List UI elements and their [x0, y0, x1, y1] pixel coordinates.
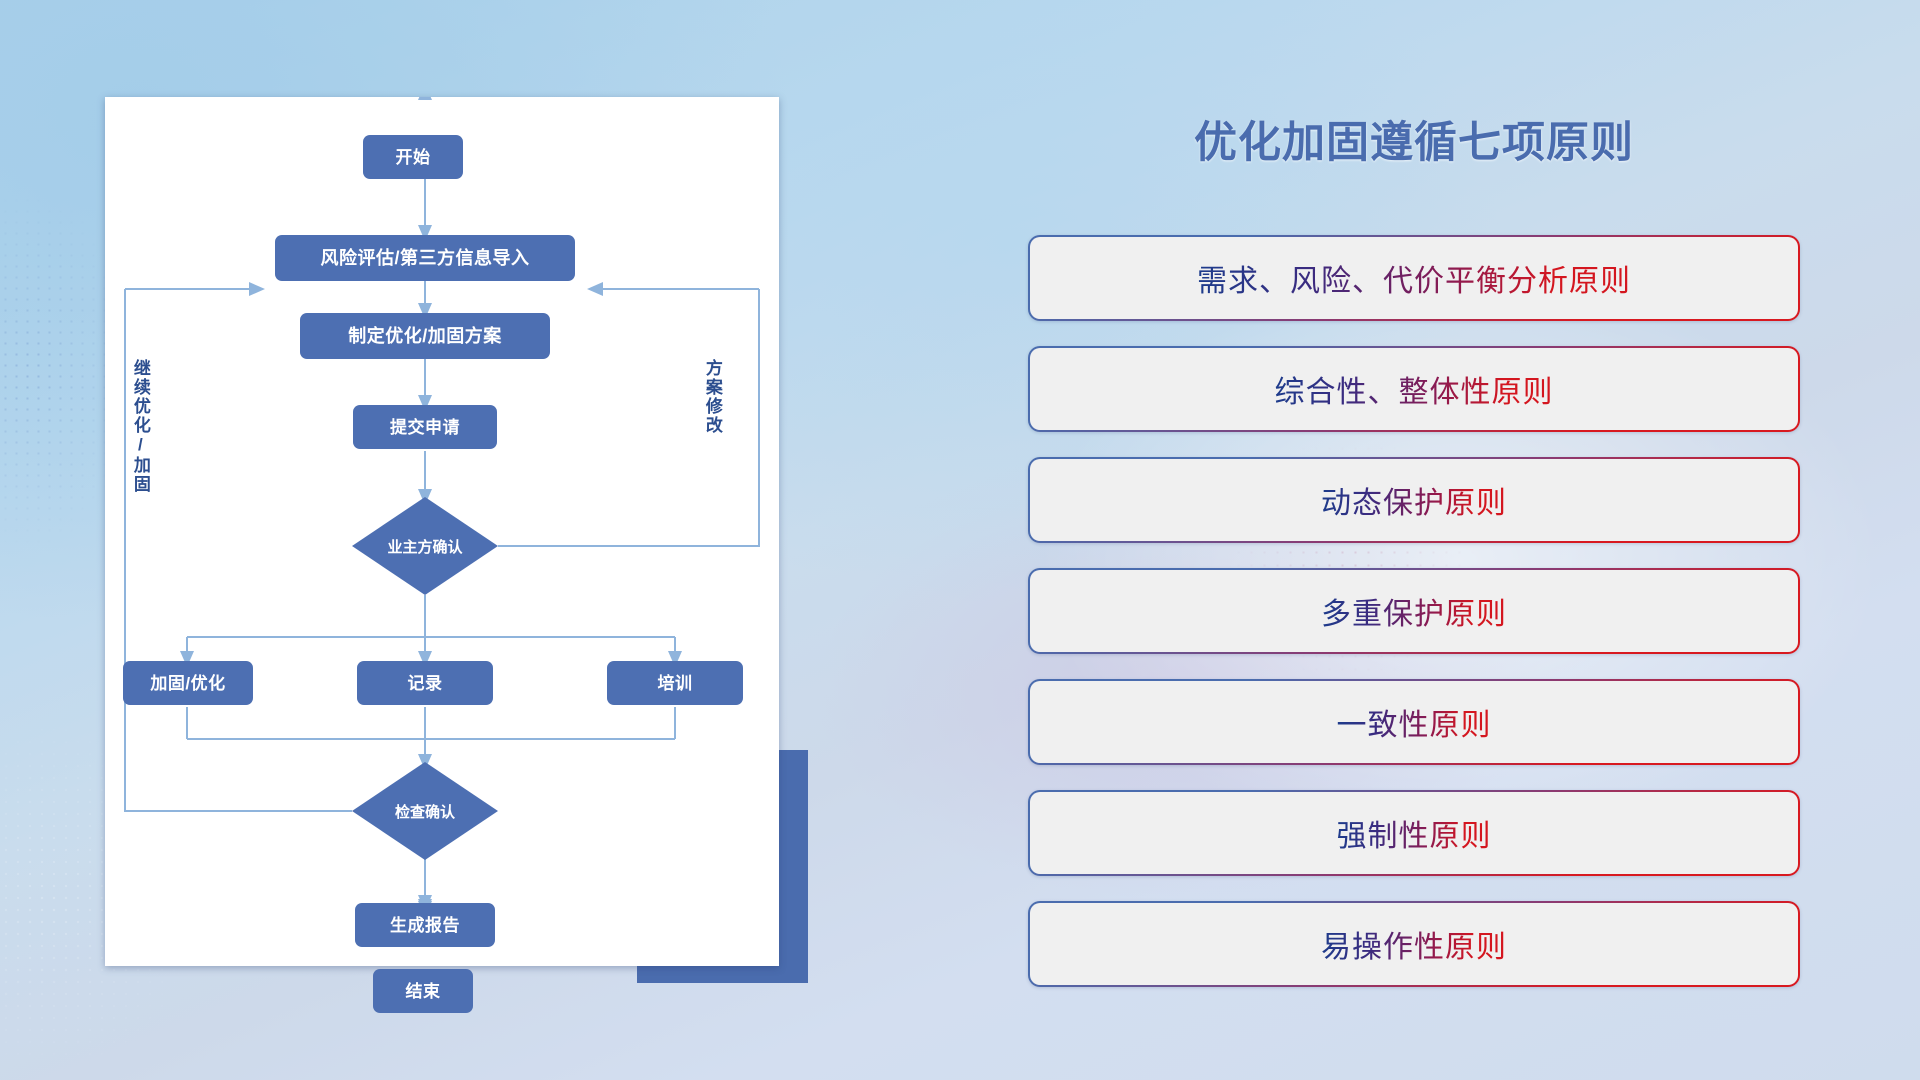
flow-node-record-label: 记录	[408, 675, 443, 692]
flow-node-submit-application[interactable]: 提交申请	[353, 405, 497, 449]
flow-node-training-label: 培训	[658, 675, 693, 692]
page-title: 优化加固遵循七项原则	[1028, 108, 1800, 170]
flow-node-generate-report-label: 生成报告	[390, 917, 460, 934]
principle-item-3[interactable]: 动态保护原则	[1028, 457, 1800, 543]
flow-node-submit-application-label: 提交申请	[390, 419, 460, 436]
flow-node-reinforce-optimize[interactable]: 加固/优化	[123, 661, 253, 705]
flowchart-card: 开始 风险评估/第三方信息导入 制定优化/加固方案 提交申请 业主方确认 加固/…	[105, 97, 779, 966]
flow-node-reinforce-optimize-label: 加固/优化	[150, 675, 225, 692]
flow-node-start-label: 开始	[396, 149, 431, 166]
flow-node-plan[interactable]: 制定优化/加固方案	[300, 313, 550, 359]
flow-node-record[interactable]: 记录	[357, 661, 493, 705]
principle-item-2[interactable]: 综合性、整体性原则	[1028, 346, 1800, 432]
flow-node-end[interactable]: 结束	[373, 969, 473, 1013]
principle-item-1[interactable]: 需求、风险、代价平衡分析原则	[1028, 235, 1800, 321]
flow-node-risk-assessment[interactable]: 风险评估/第三方信息导入	[275, 235, 575, 281]
flow-node-start[interactable]: 开始	[363, 135, 463, 179]
principle-item-2-label: 综合性、整体性原则	[1275, 367, 1554, 411]
flow-node-owner-confirmation-label: 业主方确认	[387, 536, 462, 557]
flow-node-inspection-confirmation[interactable]: 检查确认	[352, 762, 498, 860]
flow-node-end-label: 结束	[406, 983, 441, 1000]
flow-node-inspection-confirmation-label: 检查确认	[395, 801, 455, 822]
principle-item-3-label: 动态保护原则	[1321, 478, 1507, 522]
principle-item-7-label: 易操作性原则	[1321, 922, 1507, 966]
principle-item-5[interactable]: 一致性原则	[1028, 679, 1800, 765]
principle-item-6-label: 强制性原则	[1337, 811, 1492, 855]
flow-node-risk-assessment-label: 风险评估/第三方信息导入	[321, 249, 530, 267]
flow-edge-label-continue-optimize: 继续优化/加固	[131, 359, 149, 539]
flow-node-training[interactable]: 培训	[607, 661, 743, 705]
principle-item-4-label: 多重保护原则	[1321, 589, 1507, 633]
flow-node-plan-label: 制定优化/加固方案	[348, 327, 502, 345]
principle-item-7[interactable]: 易操作性原则	[1028, 901, 1800, 987]
principle-item-5-label: 一致性原则	[1337, 700, 1492, 744]
principle-item-6[interactable]: 强制性原则	[1028, 790, 1800, 876]
flow-edge-label-plan-revision: 方案修改	[703, 359, 721, 489]
flowchart-diagram: 开始 风险评估/第三方信息导入 制定优化/加固方案 提交申请 业主方确认 加固/…	[105, 97, 779, 966]
flow-node-generate-report[interactable]: 生成报告	[355, 903, 495, 947]
principle-item-4[interactable]: 多重保护原则	[1028, 568, 1800, 654]
flow-node-owner-confirmation[interactable]: 业主方确认	[352, 497, 498, 595]
principle-item-1-label: 需求、风险、代价平衡分析原则	[1197, 256, 1631, 300]
